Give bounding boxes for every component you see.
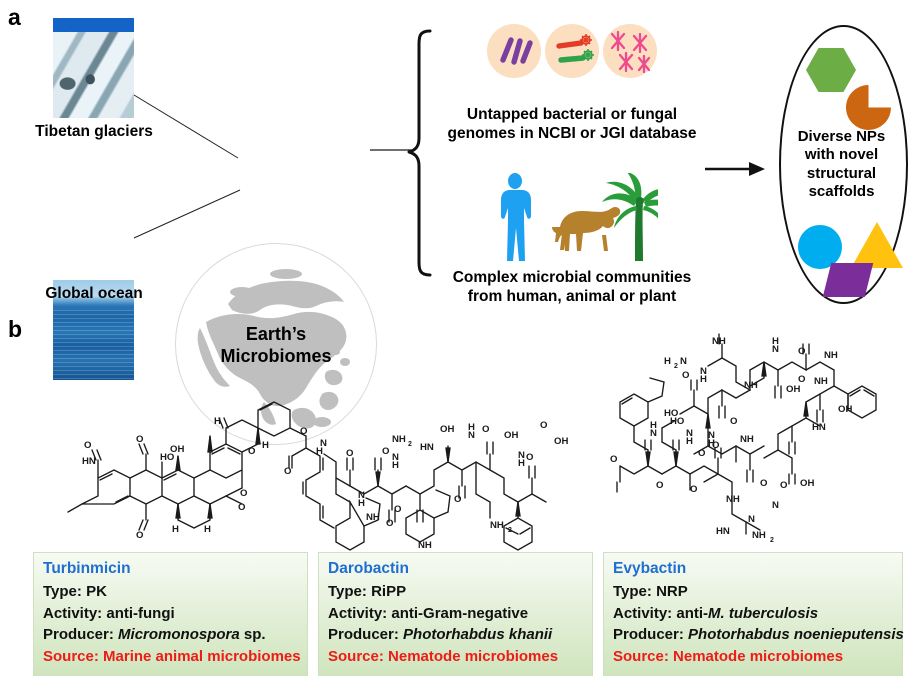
parallelogram-shape <box>823 263 873 297</box>
sheep-icon <box>552 207 620 251</box>
activity-label: Activity: <box>43 605 102 622</box>
svg-text:2: 2 <box>770 537 774 544</box>
host-organisms-group <box>488 173 658 270</box>
svg-text:O: O <box>760 478 768 489</box>
oval-line-2: with novel <box>779 146 904 164</box>
triangle-shape <box>851 222 903 268</box>
svg-text:NH: NH <box>392 434 406 445</box>
svg-text:OH: OH <box>440 424 454 435</box>
oval-line-1: Diverse NPs <box>779 128 904 146</box>
svg-text:H: H <box>468 422 475 433</box>
right-arrow-icon <box>703 158 768 180</box>
type-label: Type: <box>328 583 367 600</box>
svg-text:NH: NH <box>744 380 758 391</box>
svg-text:H: H <box>708 438 715 449</box>
svg-text:H: H <box>686 436 693 447</box>
branch-2-line1: Complex microbial communities <box>437 268 707 287</box>
oval-text: Diverse NPs with novel structural scaffo… <box>779 128 904 201</box>
compound-info-box-1: Turbinmicin Type: PK Activity: anti-fung… <box>33 552 308 676</box>
svg-text:O: O <box>454 494 462 505</box>
svg-text:H: H <box>214 416 221 427</box>
svg-text:NH: NH <box>740 434 754 445</box>
source-value: Marine animal microbiomes <box>103 648 301 665</box>
svg-text:O: O <box>240 488 248 499</box>
svg-text:H: H <box>172 524 179 535</box>
branch-2-line2: from human, animal or plant <box>437 287 707 306</box>
svg-text:H: H <box>664 356 671 367</box>
type-label: Type: <box>43 583 82 600</box>
source-value: Nematode microbiomes <box>673 648 843 665</box>
source-label: Source: <box>328 648 384 665</box>
svg-text:NH: NH <box>726 494 740 505</box>
svg-text:OH: OH <box>800 478 814 489</box>
evybactin-structure: NH H2N NH NH O NH NH O OH HN OH O NH O O… <box>612 336 912 544</box>
svg-text:O: O <box>394 504 402 515</box>
compound-activity-row: Activity: anti-Gram-negative <box>328 605 583 622</box>
compound-source-row: Source: Nematode microbiomes <box>328 648 583 665</box>
producer-label: Producer: <box>328 626 399 643</box>
svg-text:NH: NH <box>366 512 380 523</box>
compound-name: Darobactin <box>328 560 583 578</box>
svg-text:NH: NH <box>490 520 504 531</box>
globe-label-line2: Microbiomes <box>176 346 376 368</box>
svg-text:O: O <box>730 416 738 427</box>
svg-text:HN: HN <box>812 422 826 433</box>
svg-text:H: H <box>358 498 365 509</box>
svg-text:O: O <box>238 502 246 513</box>
type-label: Type: <box>613 583 652 600</box>
producer-species: Micromonospora <box>118 626 240 643</box>
svg-text:O: O <box>136 530 144 541</box>
svg-text:O: O <box>690 484 698 495</box>
svg-text:O: O <box>798 346 806 357</box>
svg-text:H: H <box>392 460 399 471</box>
svg-text:O: O <box>526 452 534 463</box>
svg-text:H: H <box>204 524 211 535</box>
compound-type-row: Type: NRP <box>613 583 893 600</box>
compound-activity-row: Activity: anti-M. tuberculosis <box>613 605 893 622</box>
svg-text:OH: OH <box>838 404 852 415</box>
svg-text:NH: NH <box>824 350 838 361</box>
branch-2-text: Complex microbial communities from human… <box>437 268 707 307</box>
type-value: RiPP <box>371 583 406 600</box>
source-value: Nematode microbiomes <box>388 648 558 665</box>
svg-text:H: H <box>262 440 269 451</box>
producer-species: Photorhabdus khanii <box>403 626 552 643</box>
svg-text:O: O <box>610 454 618 465</box>
svg-text:O: O <box>386 518 394 529</box>
compound-source-row: Source: Nematode microbiomes <box>613 648 893 665</box>
activity-value: anti-Gram-negative <box>391 605 528 622</box>
svg-text:O: O <box>382 446 390 457</box>
svg-text:H: H <box>518 458 525 469</box>
oval-line-3: structural <box>779 165 904 183</box>
activity-label: Activity: <box>613 605 672 622</box>
svg-text:NH: NH <box>752 530 766 541</box>
compound-type-row: Type: RiPP <box>328 583 583 600</box>
svg-text:O: O <box>248 446 256 457</box>
compound-producer-row: Producer: Micromonospora sp. <box>43 626 298 643</box>
activity-label: Activity: <box>328 605 387 622</box>
svg-text:NH: NH <box>814 376 828 387</box>
branch-1-line1: Untapped bacterial or fungal <box>437 105 707 124</box>
oval-line-4: scaffolds <box>779 183 904 201</box>
compound-activity-row: Activity: anti-fungi <box>43 605 298 622</box>
svg-text:O: O <box>284 466 292 477</box>
svg-text:O: O <box>482 424 490 435</box>
compound-info-box-2: Darobactin Type: RiPP Activity: anti-Gra… <box>318 552 593 676</box>
svg-text:O: O <box>300 426 308 437</box>
svg-text:N: N <box>748 514 755 525</box>
turbinmicin-structure: HN O O O HO OH O O O O O H H H H <box>52 392 342 547</box>
human-icon <box>501 173 531 261</box>
svg-text:2: 2 <box>408 441 412 448</box>
svg-text:2: 2 <box>674 363 678 370</box>
producer-label: Producer: <box>43 626 114 643</box>
svg-text:2: 2 <box>508 527 512 534</box>
svg-text:H: H <box>700 374 707 385</box>
producer-species: Photorhabdus noenieputensis <box>688 626 904 643</box>
svg-text:OH: OH <box>786 384 800 395</box>
svg-text:O: O <box>656 480 664 491</box>
svg-text:O: O <box>136 434 144 445</box>
activity-value: anti-fungi <box>106 605 174 622</box>
activity-species: M. tuberculosis <box>708 605 818 622</box>
svg-text:OH: OH <box>504 430 518 441</box>
svg-text:NH: NH <box>712 336 726 347</box>
left-brace <box>406 28 432 278</box>
panel-b-letter: b <box>8 318 22 341</box>
branch-1-text: Untapped bacterial or fungal genomes in … <box>437 105 707 144</box>
compound-producer-row: Producer: Photorhabdus khanii <box>328 626 583 643</box>
producer-suffix: sp. <box>240 626 266 643</box>
svg-text:HO: HO <box>670 416 685 427</box>
source-label: Source: <box>43 648 99 665</box>
svg-text:NH: NH <box>418 540 432 551</box>
type-value: PK <box>86 583 107 600</box>
svg-text:H: H <box>650 420 657 431</box>
activity-value: anti- <box>676 605 708 622</box>
svg-text:O: O <box>540 420 548 431</box>
branch-1-line2: genomes in NCBI or JGI database <box>437 124 707 143</box>
type-value: NRP <box>656 583 688 600</box>
darobactin-structure: HN O NH O NH2 O NH HN OH O NH O OH NH O … <box>322 402 610 547</box>
svg-text:HN: HN <box>716 526 730 537</box>
svg-text:OH: OH <box>554 436 568 447</box>
globe-label-line1: Earth’s <box>176 324 376 346</box>
svg-text:O: O <box>346 448 354 459</box>
svg-text:N: N <box>772 500 779 511</box>
compound-name: Evybactin <box>613 560 893 578</box>
svg-text:O: O <box>780 480 788 491</box>
compound-type-row: Type: PK <box>43 583 298 600</box>
compound-name: Turbinmicin <box>43 560 298 578</box>
svg-text:N: N <box>680 356 687 367</box>
svg-text:O: O <box>84 440 92 451</box>
producer-label: Producer: <box>613 626 684 643</box>
petri-dish-group <box>487 22 657 89</box>
svg-text:N: N <box>320 438 327 449</box>
svg-text:O: O <box>698 448 706 459</box>
svg-text:OH: OH <box>170 444 184 455</box>
compound-producer-row: Producer: Photorhabdus noenieputensis <box>613 626 893 643</box>
compound-source-row: Source: Marine animal microbiomes <box>43 648 298 665</box>
svg-text:HN: HN <box>420 442 434 453</box>
svg-text:HN: HN <box>82 456 96 467</box>
source-label: Source: <box>613 648 669 665</box>
compound-info-box-3: Evybactin Type: NRP Activity: anti-M. tu… <box>603 552 903 676</box>
svg-text:O: O <box>682 370 690 381</box>
svg-text:H: H <box>772 336 779 347</box>
